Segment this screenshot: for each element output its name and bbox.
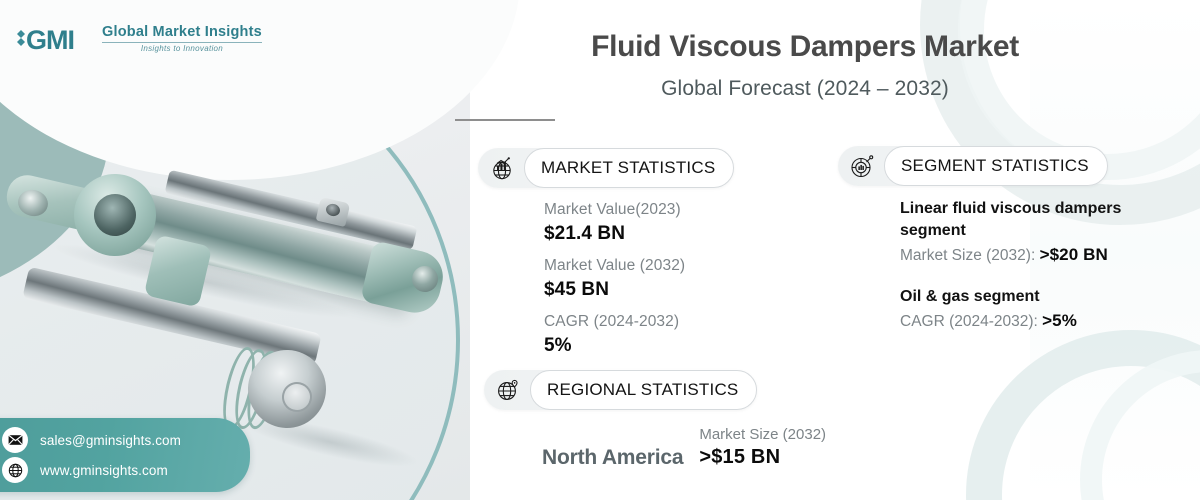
market-statistics-body: Market Value(2023) $21.4 BN Market Value… <box>478 188 734 359</box>
region-metric-value: >$15 BN <box>699 446 826 469</box>
envelope-icon <box>2 427 28 453</box>
contact-website[interactable]: www.gminsights.com <box>40 463 168 478</box>
segment-1-metric-value: >$20 BN <box>1040 245 1108 264</box>
globe-icon <box>2 457 28 483</box>
segment-1-title: Linear fluid viscous dampers segment <box>900 198 1162 241</box>
page-subtitle: Global Forecast (2024 – 2032) <box>455 77 1155 101</box>
contact-email[interactable]: sales@gminsights.com <box>40 433 181 448</box>
segment-2-metric: CAGR (2024-2032): >5% <box>900 308 1162 334</box>
brand-wordmark: Global Market Insights Insights to Innov… <box>102 25 262 54</box>
contact-bar: sales@gminsights.com www.gminsights.com <box>0 418 250 492</box>
ring-bottom-right-inner-decoration <box>1080 350 1200 500</box>
gmi-logo-icon: GMI <box>16 24 94 54</box>
header: Fluid Viscous Dampers Market Global Fore… <box>455 30 1155 121</box>
market-statistics-label-pill: MARKET STATISTICS <box>524 148 734 188</box>
contact-website-row[interactable]: www.gminsights.com <box>2 457 236 483</box>
brand-divider <box>102 42 262 43</box>
segment-1-metric-label: Market Size (2032): <box>900 247 1040 264</box>
segment-statistics-body: Linear fluid viscous dampers segment Mar… <box>838 186 1162 334</box>
segment-statistics-panel: SEGMENT STATISTICS Linear fluid viscous … <box>838 146 1162 334</box>
market-statistics-header[interactable]: MARKET STATISTICS <box>478 148 734 188</box>
region-metric-label: Market Size (2032) <box>699 424 826 446</box>
segment-spacer <box>900 268 1162 286</box>
brand-logo[interactable]: GMI Global Market Insights Insights to I… <box>16 24 262 54</box>
segment-1-metric: Market Size (2032): >$20 BN <box>900 242 1162 268</box>
contact-email-row[interactable]: sales@gminsights.com <box>2 427 236 453</box>
regional-statistics-body: North America Market Size (2032) >$15 BN <box>484 410 826 470</box>
cagr-label: CAGR (2024-2032) <box>544 310 734 333</box>
segment-2-metric-label: CAGR (2024-2032): <box>900 313 1042 330</box>
brand-tagline: Insights to Innovation <box>141 44 223 53</box>
page-title: Fluid Viscous Dampers Market <box>455 30 1155 65</box>
market-value-2032-value: $45 BN <box>544 277 734 303</box>
cagr-value: 5% <box>544 333 734 359</box>
segment-2-metric-value: >5% <box>1042 311 1077 330</box>
damper-mid-collar <box>144 234 213 307</box>
market-value-2032-label: Market Value (2032) <box>544 254 734 277</box>
regional-statistics-header[interactable]: REGIONAL STATISTICS <box>484 370 757 410</box>
segment-statistics-heading: SEGMENT STATISTICS <box>901 156 1089 176</box>
title-rule-holder <box>455 101 1155 121</box>
donut-chart-icon <box>842 146 882 186</box>
segment-statistics-label-pill: SEGMENT STATISTICS <box>884 146 1108 186</box>
market-value-2023-value: $21.4 BN <box>544 221 734 247</box>
market-value-2023-label: Market Value(2023) <box>544 198 734 221</box>
region-name: North America <box>542 446 683 470</box>
segment-statistics-header[interactable]: SEGMENT STATISTICS <box>838 146 1108 186</box>
segment-2-title: Oil & gas segment <box>900 286 1162 308</box>
globe-pin-icon <box>488 370 528 410</box>
market-statistics-panel: MARKET STATISTICS Market Value(2023) $21… <box>478 148 734 366</box>
ring-bottom-right-decoration <box>966 330 1200 500</box>
regional-statistics-label-pill: REGIONAL STATISTICS <box>530 370 757 410</box>
brand-name: Global Market Insights <box>102 25 262 41</box>
regional-statistics-heading: REGIONAL STATISTICS <box>547 380 738 400</box>
svg-text:GMI: GMI <box>26 25 74 54</box>
title-divider <box>455 119 555 121</box>
globe-bar-chart-icon <box>482 148 522 188</box>
region-metric: Market Size (2032) >$15 BN <box>699 424 826 470</box>
regional-statistics-panel: REGIONAL STATISTICS North America Market… <box>484 370 826 470</box>
infographic-banner: GMI Global Market Insights Insights to I… <box>0 0 1200 500</box>
market-statistics-heading: MARKET STATISTICS <box>541 158 715 178</box>
